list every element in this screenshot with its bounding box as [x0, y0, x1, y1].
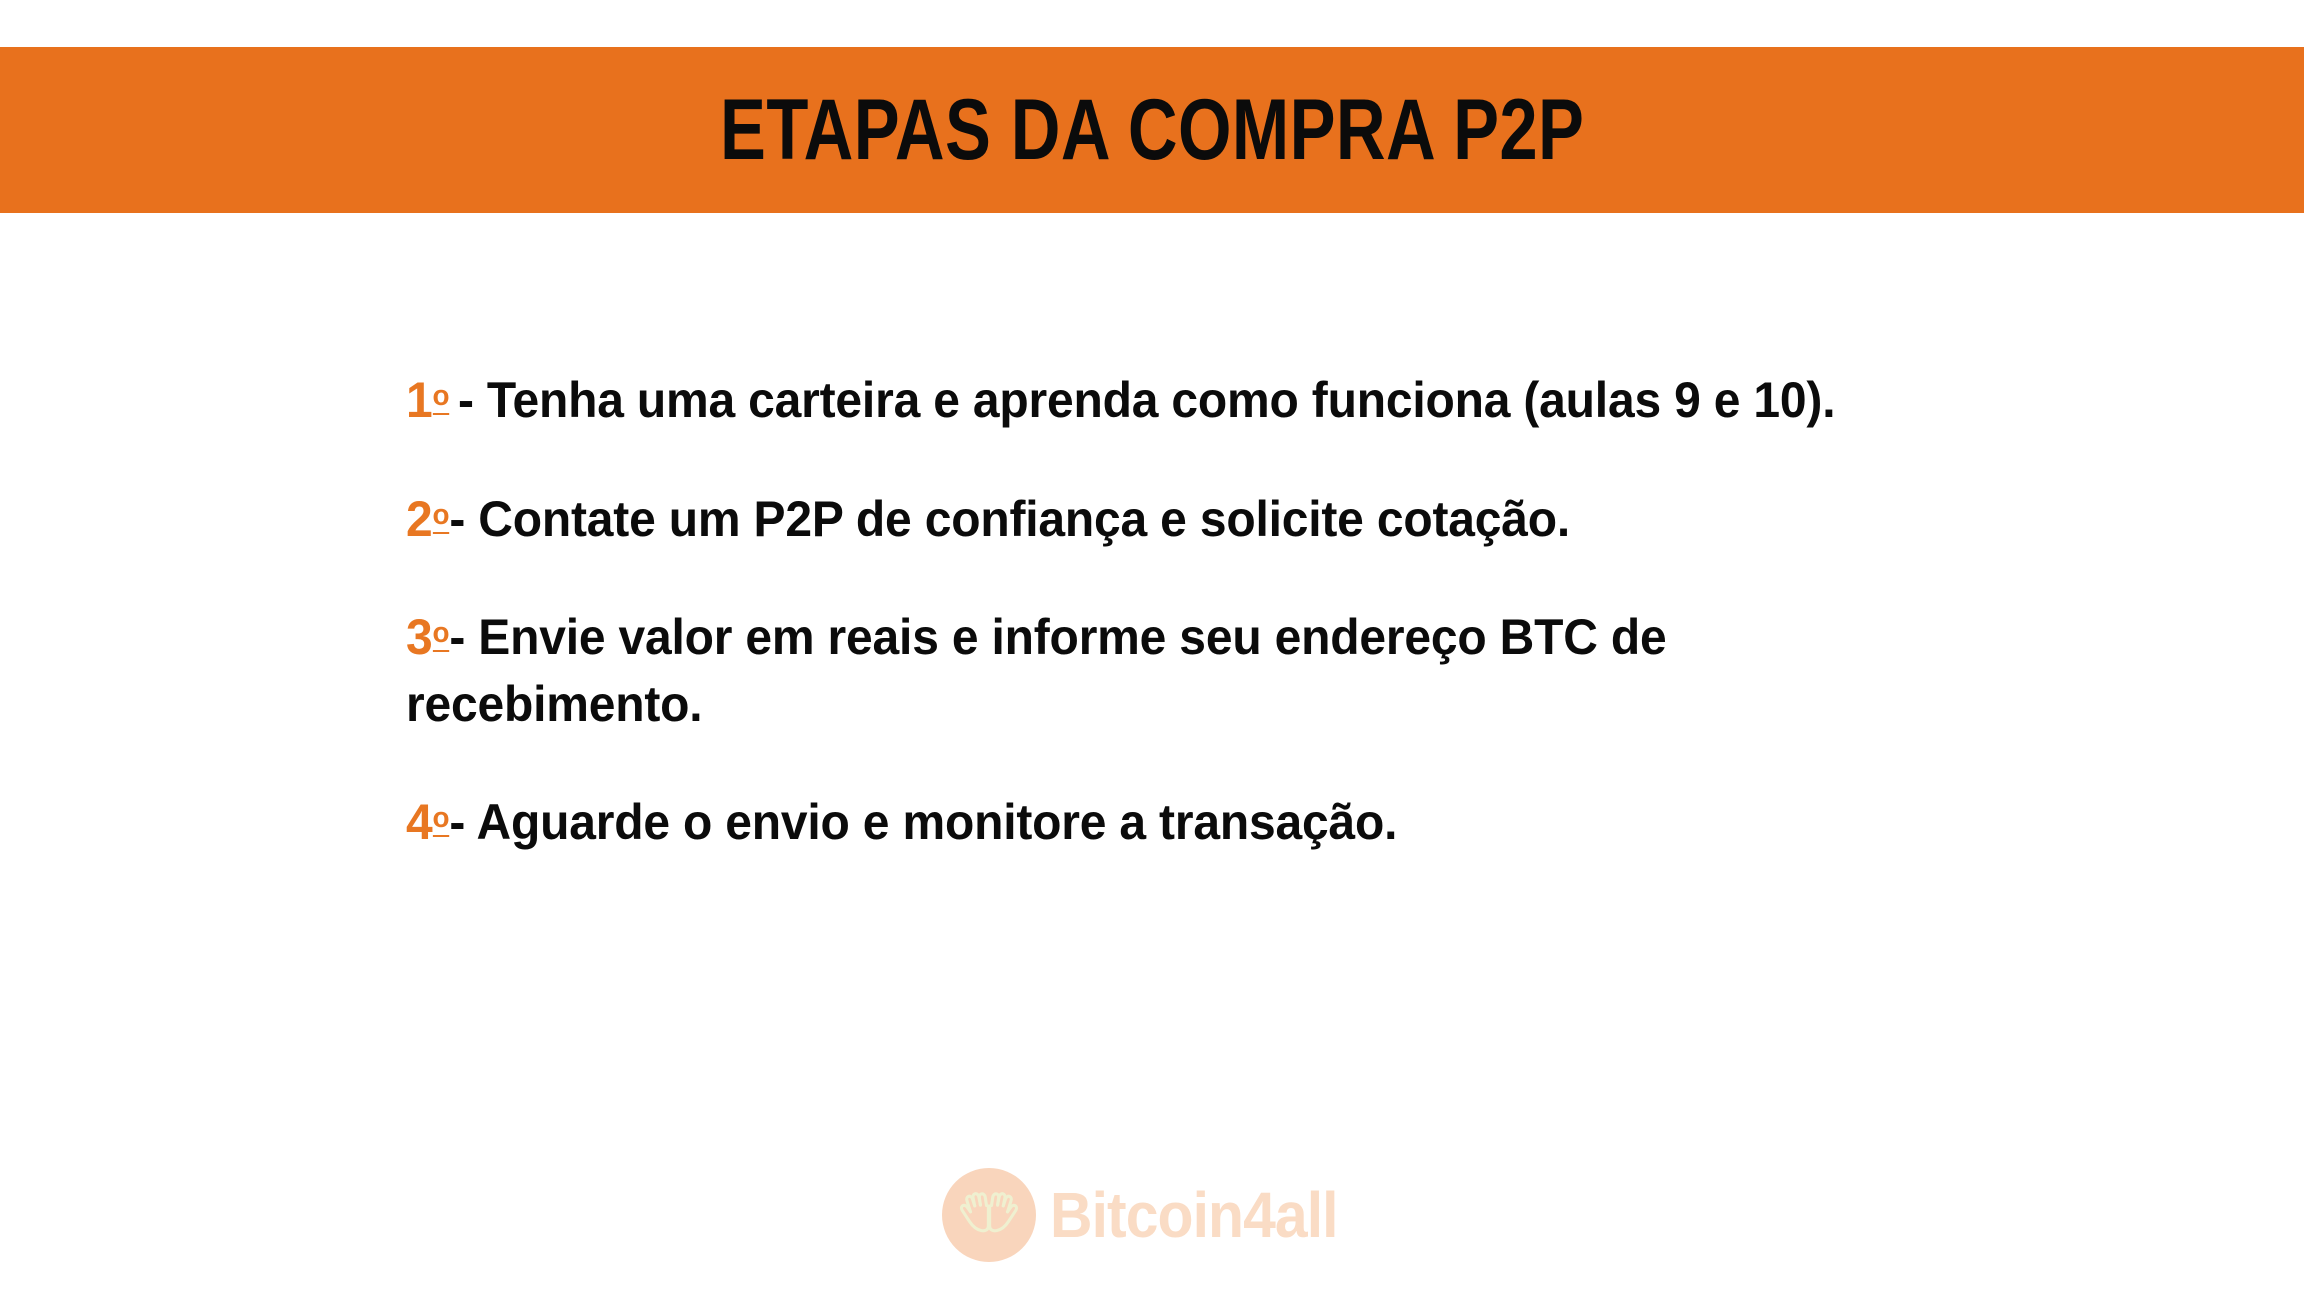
step-ordinal: 4o	[406, 794, 449, 850]
step-ordinal-number: 3	[406, 609, 433, 665]
logo-wordmark: Bitcoin4all	[1050, 1183, 1338, 1247]
page-title: ETAPAS DA COMPRA P2P	[720, 87, 1584, 173]
step-ordinal: 1o	[406, 372, 449, 428]
step-dash: -	[449, 491, 465, 547]
list-item: 2o- Contate um P2P de confiança e solici…	[406, 486, 1846, 553]
header-banner: ETAPAS DA COMPRA P2P	[0, 47, 2304, 213]
step-ordinal-number: 2	[406, 491, 433, 547]
step-dash: -	[449, 794, 465, 850]
step-text: Tenha uma carteira e aprenda como funcio…	[487, 372, 1835, 428]
ordinal-indicator-icon: o	[433, 382, 450, 415]
step-ordinal-number: 1	[406, 372, 433, 428]
step-text: Envie valor em reais e informe seu ender…	[406, 609, 1666, 732]
slide-canvas: ETAPAS DA COMPRA P2P 1o- Tenha uma carte…	[0, 0, 2304, 1296]
step-ordinal: 2o	[406, 491, 449, 547]
two-open-hands-icon	[942, 1168, 1036, 1262]
step-ordinal: 3o	[406, 609, 449, 665]
step-dash: -	[449, 609, 465, 665]
step-text: Contate um P2P de confiança e solicite c…	[478, 491, 1570, 547]
ordinal-indicator-icon: o	[433, 501, 450, 534]
step-dash: -	[458, 372, 474, 428]
step-ordinal-number: 4	[406, 794, 433, 850]
footer-logo: Bitcoin4all	[0, 1168, 2304, 1262]
steps-list: 1o- Tenha uma carteira e aprenda como fu…	[406, 367, 1906, 856]
list-item: 3o- Envie valor em reais e informe seu e…	[406, 604, 1846, 737]
step-text: Aguarde o envio e monitore a transação.	[476, 794, 1397, 850]
ordinal-indicator-icon: o	[433, 804, 450, 837]
list-item: 4o- Aguarde o envio e monitore a transaç…	[406, 789, 1846, 856]
list-item: 1o- Tenha uma carteira e aprenda como fu…	[406, 367, 1846, 434]
ordinal-indicator-icon: o	[433, 619, 450, 652]
